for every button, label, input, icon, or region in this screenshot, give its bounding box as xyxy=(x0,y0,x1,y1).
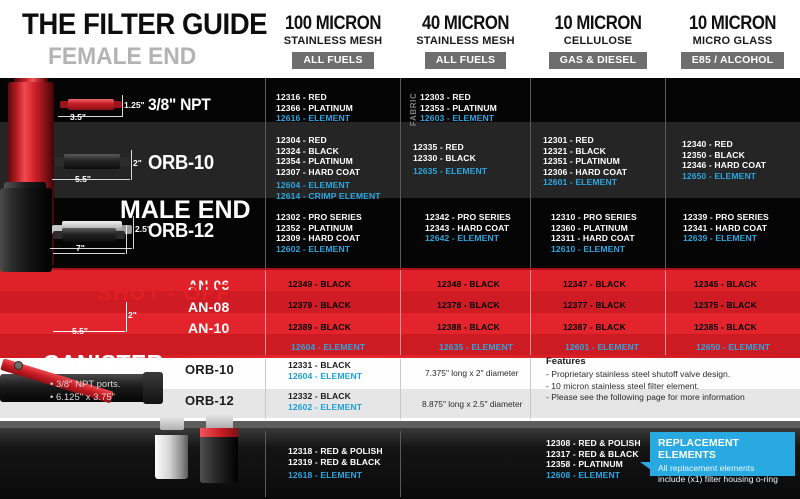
cell-canister-100micron: 12318 - RED & POLISH 12319 - RED & BLACK… xyxy=(288,446,383,481)
cell-an06-40micron: 12348 - BLACK xyxy=(437,279,500,290)
part-number: 12358 - PLATINUM xyxy=(546,459,641,470)
part-number: 12335 - RED xyxy=(413,142,487,153)
element-number: 12650 - ELEMENT xyxy=(682,171,766,182)
dimension-line xyxy=(126,225,127,254)
cell-an08-10micron-cellulose: 12377 - BLACK xyxy=(563,300,626,311)
orb10-dim-diameter: 2" xyxy=(133,158,142,168)
features-title: Features xyxy=(546,356,745,367)
cell-orb10-40micron: 12335 - RED 12330 - BLACK 12635 - ELEMEN… xyxy=(413,142,487,177)
dimension-line xyxy=(58,116,122,117)
part-number: 12303 - RED xyxy=(420,92,497,103)
element-number: 12602 - ELEMENT xyxy=(276,244,362,255)
column-fuel-badge: ALL FUELS xyxy=(425,52,506,69)
column-material-label: CELLULOSE xyxy=(531,34,665,49)
cell-orb12-10micron-microglass: 12339 - PRO SERIES 12341 - HARD COAT 126… xyxy=(683,212,769,244)
fabric-label: FABRIC xyxy=(409,93,418,126)
cell-an06-10micron-cellulose: 12347 - BLACK xyxy=(563,279,626,290)
part-number: 12324 - BLACK xyxy=(276,146,381,157)
section-divider xyxy=(0,421,800,428)
cell-male-element-40micron: 12635 - ELEMENT xyxy=(439,342,513,353)
column-divider xyxy=(400,270,401,355)
cell-an10-10micron-cellulose: 12387 - BLACK xyxy=(563,322,626,333)
page-title: THE FILTER GUIDE xyxy=(22,8,267,42)
part-number: 12316 - RED xyxy=(276,92,353,103)
cell-npt-40micron: 12303 - RED 12353 - PLATINUM 12603 - ELE… xyxy=(420,92,497,124)
column-divider xyxy=(265,359,266,419)
canister-bullet: • 6.125" x 3.75" xyxy=(50,391,120,404)
part-number: 12306 - HARD COAT xyxy=(543,167,627,178)
feature-item: - Please see the following page for more… xyxy=(546,392,745,404)
column-divider xyxy=(400,78,401,268)
element-number: 12608 - ELEMENT xyxy=(546,470,641,481)
column-divider xyxy=(400,359,401,419)
cell-orb12-100micron: 12302 - PRO SERIES 12352 - PLATINUM 1230… xyxy=(276,212,362,254)
element-number: 12642 - ELEMENT xyxy=(425,233,511,244)
part-number: 12341 - HARD COAT xyxy=(683,223,769,234)
part-number: 12330 - BLACK xyxy=(413,153,487,164)
part-number: 12321 - BLACK xyxy=(543,146,627,157)
column-micron-label: 100 MICRON xyxy=(274,14,392,33)
features-block: Features - Proprietary stainless steel s… xyxy=(546,356,745,404)
column-divider xyxy=(530,359,531,419)
column-fuel-badge: E85 / ALCOHOL xyxy=(681,52,785,69)
element-number: 12602 - ELEMENT xyxy=(288,402,362,413)
column-divider xyxy=(665,78,666,268)
feature-item: - 10 micron stainless steel filter eleme… xyxy=(546,381,745,393)
part-number: 12343 - HARD COAT xyxy=(425,223,511,234)
part-number: 12304 - RED xyxy=(276,135,381,146)
row-label-an10: AN-10 xyxy=(188,320,229,336)
part-number: 12350 - BLACK xyxy=(682,150,766,161)
part-number: 12301 - RED xyxy=(543,135,627,146)
column-fuel-badge: ALL FUELS xyxy=(292,52,373,69)
part-number: 12318 - RED & POLISH xyxy=(288,446,383,457)
cell-an08-100micron: 12379 - BLACK xyxy=(288,300,351,311)
column-divider xyxy=(265,78,266,268)
part-number: 12331 - BLACK xyxy=(288,360,362,371)
orb12-dim-length: 7" xyxy=(76,243,85,253)
column-micron-label: 10 MICRON xyxy=(539,14,657,33)
element-number: 12610 - ELEMENT xyxy=(551,244,637,255)
part-number: 12352 - PLATINUM xyxy=(276,223,362,234)
part-number: 12332 - BLACK xyxy=(288,391,362,402)
callout-title: REPLACEMENT ELEMENTS xyxy=(658,437,788,461)
cell-an06-100micron: 12349 - BLACK xyxy=(288,279,351,290)
page-subtitle: FEMALE END xyxy=(48,43,196,71)
part-number: 12317 - RED & BLACK xyxy=(546,449,641,460)
element-number: 12604 - ELEMENT xyxy=(276,180,381,191)
part-number: 12319 - RED & BLACK xyxy=(288,457,383,468)
npt-dim-length: 3.5" xyxy=(70,112,86,122)
part-number: 12366 - PLATINUM xyxy=(276,103,353,114)
cell-orb12-10micron-cellulose: 12310 - PRO SERIES 12360 - PLATINUM 1231… xyxy=(551,212,637,254)
canister-bullets: • 3/8" NPT ports. • 6.125" x 3.75" xyxy=(50,378,120,404)
male-dim-length: 5.5" xyxy=(72,326,88,336)
part-number: 12307 - HARD COAT xyxy=(276,167,381,178)
element-number: 12639 - ELEMENT xyxy=(683,233,769,244)
column-material-label: STAINLESS MESH xyxy=(266,34,400,49)
male-dim-diameter: 2" xyxy=(128,310,137,320)
column-material-label: STAINLESS MESH xyxy=(400,34,531,49)
column-divider xyxy=(530,270,531,355)
dimension-line xyxy=(131,150,132,180)
cell-orb12-40micron: 12342 - PRO SERIES 12343 - HARD COAT 126… xyxy=(425,212,511,244)
canister-title: CANISTER xyxy=(43,350,164,377)
male-dimension-line xyxy=(126,302,127,332)
part-number: 12308 - RED & POLISH xyxy=(546,438,641,449)
element-number: 12603 - ELEMENT xyxy=(420,113,497,124)
cell-male-element-10micron-cellulose: 12601 - ELEMENT xyxy=(565,342,639,353)
cell-canister-10micron-cellulose: 12308 - RED & POLISH 12317 - RED & BLACK… xyxy=(546,438,641,480)
cell-shutoff-orb10: 12331 - BLACK 12604 - ELEMENT xyxy=(288,360,362,381)
column-header-10-micron-cellulose: 10 MICRON CELLULOSE GAS & DIESEL xyxy=(531,14,665,69)
part-number: 12342 - PRO SERIES xyxy=(425,212,511,223)
element-number: 12604 - ELEMENT xyxy=(288,371,362,382)
part-number: 12309 - HARD COAT xyxy=(276,233,362,244)
male-dimension-line xyxy=(53,331,125,332)
male-end-title: MALE END xyxy=(120,196,251,225)
column-header-40-micron: 40 MICRON STAINLESS MESH ALL FUELS xyxy=(400,14,531,69)
cell-male-element-100micron: 12604 - ELEMENT xyxy=(291,342,365,353)
dimension-line xyxy=(122,95,123,117)
column-fuel-badge: GAS & DIESEL xyxy=(549,52,648,69)
feature-item: - Proprietary stainless steel shutoff va… xyxy=(546,369,745,381)
replacement-elements-callout: REPLACEMENT ELEMENTS All replacement ele… xyxy=(650,432,795,476)
cell-an06-10micron-microglass: 12345 - BLACK xyxy=(694,279,757,290)
orb10-dim-length: 5.5" xyxy=(75,174,91,184)
cell-an10-10micron-microglass: 12385 - BLACK xyxy=(694,322,757,333)
part-number: 12351 - PLATINUM xyxy=(543,156,627,167)
part-number: 12340 - RED xyxy=(682,139,766,150)
column-header-10-micron-micro-glass: 10 MICRON MICRO GLASS E85 / ALCOHOL xyxy=(665,14,800,69)
callout-body-line1: All replacement elements xyxy=(658,463,788,474)
column-material-label: MICRO GLASS xyxy=(665,34,800,49)
element-number: 12618 - ELEMENT xyxy=(288,470,383,481)
part-number: 12302 - PRO SERIES xyxy=(276,212,362,223)
element-number: 12616 - ELEMENT xyxy=(276,113,353,124)
canister-bullet: • 3/8" NPT ports. xyxy=(50,378,120,391)
column-micron-label: 10 MICRON xyxy=(673,14,792,33)
dimension-line xyxy=(52,179,130,180)
column-micron-label: 40 MICRON xyxy=(408,14,523,33)
row-label-npt: 3/8" NPT xyxy=(148,95,211,115)
female-end-section xyxy=(0,78,800,268)
column-divider xyxy=(265,270,266,355)
cell-orb10-10micron-microglass: 12340 - RED 12350 - BLACK 12346 - HARD C… xyxy=(682,139,766,181)
column-divider xyxy=(530,78,531,268)
dimension-line xyxy=(53,253,125,254)
part-number: 12346 - HARD COAT xyxy=(682,160,766,171)
element-number: 12614 - CRIMP ELEMENT xyxy=(276,191,381,202)
element-number: 12601 - ELEMENT xyxy=(543,177,627,188)
callout-body-line2: include (x1) filter housing o-ring xyxy=(658,474,788,485)
part-number: 12354 - PLATINUM xyxy=(276,156,381,167)
shutoff-orb12-dimension: 8.875" long x 2.5" diameter xyxy=(422,399,522,409)
part-number: 12339 - PRO SERIES xyxy=(683,212,769,223)
part-number: 12360 - PLATINUM xyxy=(551,223,637,234)
column-divider xyxy=(665,270,666,355)
cell-an08-10micron-microglass: 12375 - BLACK xyxy=(694,300,757,311)
dimension-line xyxy=(50,248,132,249)
cell-shutoff-orb12: 12332 - BLACK 12602 - ELEMENT xyxy=(288,391,362,412)
row-label-orb10: ORB-10 xyxy=(148,152,214,175)
row-label-shutoff-orb12: ORB-12 xyxy=(185,393,234,408)
cell-an10-100micron: 12389 - BLACK xyxy=(288,322,351,333)
part-number: 12311 - HARD COAT xyxy=(551,233,637,244)
column-header-100-micron: 100 MICRON STAINLESS MESH ALL FUELS xyxy=(266,14,400,69)
cell-an10-40micron: 12388 - BLACK xyxy=(437,322,500,333)
part-number: 12310 - PRO SERIES xyxy=(551,212,637,223)
filter-guide-page: THE FILTER GUIDE FEMALE END 100 MICRON S… xyxy=(0,0,800,499)
cell-an08-40micron: 12378 - BLACK xyxy=(437,300,500,311)
column-divider xyxy=(400,431,401,497)
features-list: - Proprietary stainless steel shutoff va… xyxy=(546,369,745,404)
shut-off-title: SHUT - OFF xyxy=(97,280,230,306)
cell-orb10-10micron-cellulose: 12301 - RED 12321 - BLACK 12351 - PLATIN… xyxy=(543,135,627,188)
npt-dim-diameter: 1.25" xyxy=(124,100,145,110)
column-divider xyxy=(265,431,266,497)
element-number: 12635 - ELEMENT xyxy=(413,166,487,177)
part-number: 12353 - PLATINUM xyxy=(420,103,497,114)
cell-orb10-100micron: 12304 - RED 12324 - BLACK 12354 - PLATIN… xyxy=(276,135,381,202)
row-label-shutoff-orb10: ORB-10 xyxy=(185,362,234,377)
cell-male-element-10micron-microglass: 12650 - ELEMENT xyxy=(696,342,770,353)
cell-npt-100micron: 12316 - RED 12366 - PLATINUM 12616 - ELE… xyxy=(276,92,353,124)
shutoff-orb10-dimension: 7.375" long x 2" diameter xyxy=(425,368,518,378)
page-header: THE FILTER GUIDE FEMALE END 100 MICRON S… xyxy=(0,0,800,78)
